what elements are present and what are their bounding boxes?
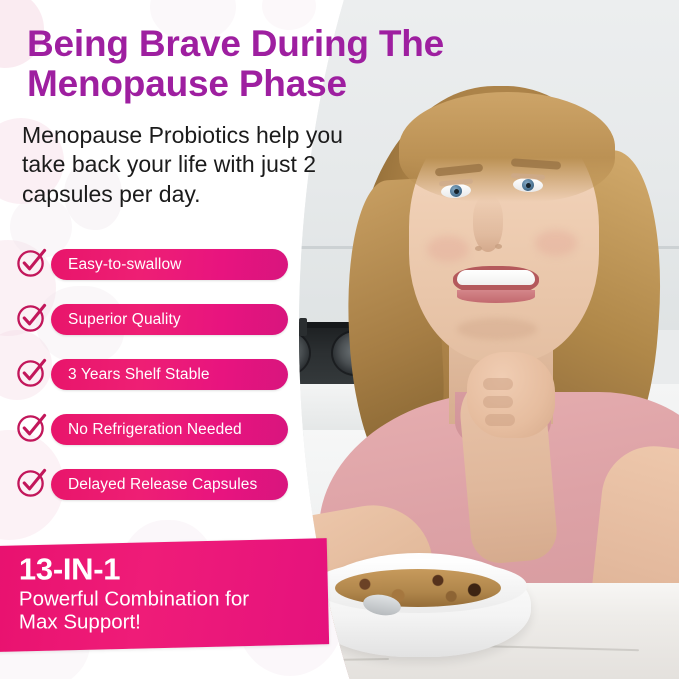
promo-subtitle-line-1: Powerful Combination for [19, 587, 249, 610]
check-circle-icon [16, 357, 47, 388]
feature-pill: 3 Years Shelf Stable [51, 359, 288, 390]
headline-line-1: Being Brave During The [27, 23, 444, 64]
knuckle [483, 396, 513, 408]
check-circle-icon [16, 412, 47, 443]
cheek-left [427, 236, 469, 262]
promo-banner-text: 13-IN-1 Powerful Combination for Max Sup… [19, 553, 295, 633]
feature-label: Delayed Release Capsules [51, 476, 257, 494]
promo-subtitle: Powerful Combination for Max Support! [19, 587, 295, 633]
list-item: 3 Years Shelf Stable [0, 357, 300, 393]
check-circle-icon [16, 467, 47, 498]
subheadline-line-3: capsules per day. [22, 181, 201, 207]
feature-pill: No Refrigeration Needed [51, 414, 288, 445]
nostril [495, 244, 502, 249]
list-item: Delayed Release Capsules [0, 467, 300, 503]
pupil [525, 182, 530, 187]
subheadline: Menopause Probiotics help you take back … [22, 121, 370, 209]
lower-lip [457, 290, 535, 303]
subheadline-line-2: take back your life with just 2 [22, 151, 316, 177]
feature-pill: Easy-to-swallow [51, 249, 288, 280]
teeth [457, 270, 535, 285]
page-title: Being Brave During The Menopause Phase [27, 24, 547, 104]
list-item: No Refrigeration Needed [0, 412, 300, 448]
feature-label: Superior Quality [51, 311, 181, 329]
promo-subtitle-line-2: Max Support! [19, 610, 141, 633]
feature-label: Easy-to-swallow [51, 256, 181, 274]
pupil [453, 188, 458, 193]
iris [450, 185, 463, 198]
list-item: Easy-to-swallow [0, 247, 300, 283]
feature-list: Easy-to-swallow Superior Quality 3 [0, 247, 300, 522]
check-circle-icon [16, 247, 47, 278]
headline-line-2: Menopause Phase [27, 63, 347, 104]
fringe [399, 92, 615, 202]
subheadline-line-1: Menopause Probiotics help you [22, 122, 343, 148]
cheek-right [535, 230, 577, 256]
chin-shadow [457, 318, 537, 340]
check-circle-icon [16, 302, 47, 333]
promo-banner: 13-IN-1 Powerful Combination for Max Sup… [0, 538, 329, 652]
product-infographic: Being Brave During The Menopause Phase M… [0, 0, 679, 679]
knuckle [485, 414, 515, 426]
feature-label: 3 Years Shelf Stable [51, 366, 210, 384]
nostril [475, 246, 482, 251]
knuckle [483, 378, 513, 390]
list-item: Superior Quality [0, 302, 300, 338]
iris [522, 179, 535, 192]
promo-title: 13-IN-1 [19, 553, 295, 586]
feature-pill: Delayed Release Capsules [51, 469, 288, 500]
feature-label: No Refrigeration Needed [51, 421, 242, 439]
feature-pill: Superior Quality [51, 304, 288, 335]
